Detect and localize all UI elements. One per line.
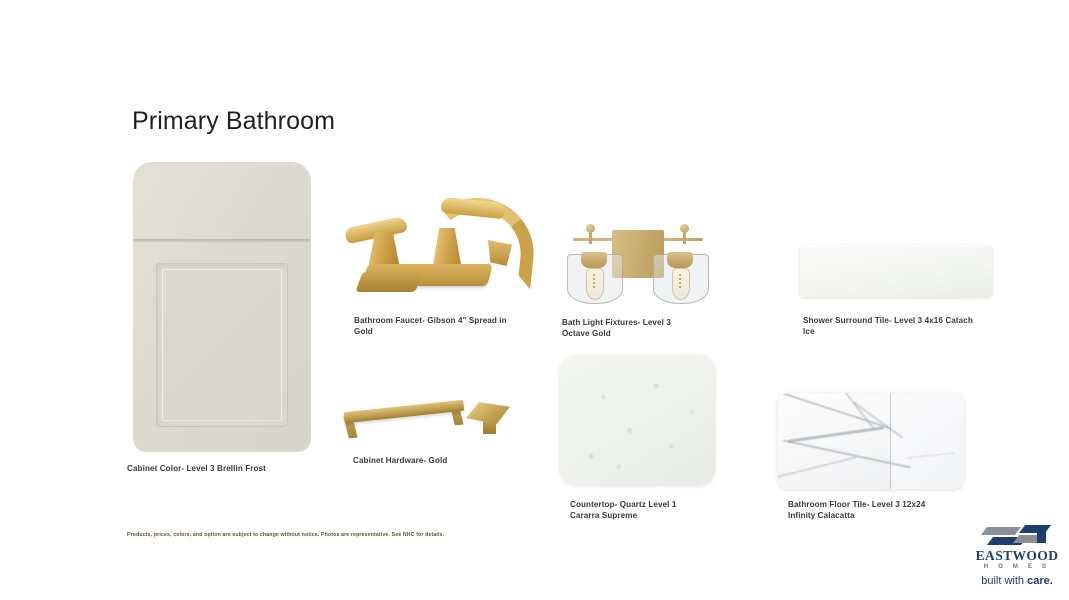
vanity-left-socket: [581, 252, 607, 268]
logo-tagline: built with care.: [972, 574, 1062, 588]
bathroom-faucet-label: Bathroom Faucet- Gibson 4" Spread in Gol…: [354, 315, 534, 337]
countertop-label-line2: Cararra Supreme: [570, 511, 637, 520]
disclaimer-text: Products, prices, colors, and option are…: [127, 531, 444, 539]
logo-subwordmark: H O M E S: [972, 563, 1062, 572]
cabinet-bar-pull: [344, 400, 464, 423]
cabinet-seam: [134, 239, 310, 242]
shower-surround-tile-label: Shower Surround Tile- Level 3 4x16 Catac…: [803, 315, 1008, 337]
shower-label-line1: Shower Surround Tile- Level 3 4x16 Catac…: [803, 316, 973, 325]
cabinet-square-knob: [466, 402, 510, 424]
vanity-left-filament: [593, 274, 595, 290]
countertop-label: Countertop- Quartz Level 1 Cararra Supre…: [570, 499, 740, 521]
faucet-image: [345, 192, 535, 302]
logo-wordmark: EASTWOOD: [972, 548, 1062, 563]
marble-vein: [778, 393, 891, 429]
marble-vein: [778, 456, 857, 480]
eastwood-homes-logo: EASTWOOD H O M E S built with care.: [972, 524, 1062, 586]
logo-tagline-light: built with: [981, 575, 1027, 587]
cabinet-color-label: Cabinet Color- Level 3 Brellin Frost: [127, 463, 317, 474]
light-label-line2: Octave Gold: [562, 329, 611, 338]
floor-tile-right-piece: [891, 393, 964, 489]
quartz-swatch: [560, 355, 715, 485]
floor-tile-swatch: [778, 393, 964, 489]
cabinet-door-swatch: [134, 163, 310, 451]
shower-label-line2: Ice: [803, 327, 815, 336]
light-label-line1: Bath Light Fixtures- Level 3: [562, 318, 671, 327]
shower-tile-swatch: [800, 245, 992, 297]
floor-label-line2: Infinity Calacatta: [788, 511, 855, 520]
cabinet-recessed-panel: [156, 263, 288, 427]
floor-label-line1: Bathroom Floor Tile- Level 3 12x24: [788, 500, 925, 509]
floor-tile-seam: [890, 393, 891, 489]
vanity-right-finial: [680, 224, 689, 233]
faucet-baseplate-end: [355, 272, 422, 292]
vanity-left-bulb: [586, 268, 604, 300]
vanity-light-image: [565, 218, 710, 304]
selection-board: Primary Bathroom Cabinet Color- Level 3 …: [0, 0, 1069, 600]
vanity-right-filament: [679, 274, 681, 290]
eastwood-logo-mark-icon: [984, 524, 1050, 548]
vanity-right-socket: [667, 252, 693, 268]
cabinet-hardware-image: [340, 392, 512, 450]
cabinet-hardware-label: Cabinet Hardware- Gold: [353, 455, 513, 466]
marble-vein: [788, 426, 883, 442]
vanity-right-bulb: [672, 268, 690, 300]
page-title: Primary Bathroom: [132, 107, 335, 136]
vanity-left-finial: [586, 224, 595, 233]
countertop-label-line1: Countertop- Quartz Level 1: [570, 500, 676, 509]
bath-light-fixtures-label: Bath Light Fixtures- Level 3 Octave Gold: [562, 317, 742, 339]
faucet-label-line1: Bathroom Faucet- Gibson 4" Spread in: [354, 316, 507, 325]
bathroom-floor-tile-label: Bathroom Floor Tile- Level 3 12x24 Infin…: [788, 499, 988, 521]
faucet-label-line2: Gold: [354, 327, 373, 336]
logo-tagline-bold: care.: [1027, 575, 1053, 587]
